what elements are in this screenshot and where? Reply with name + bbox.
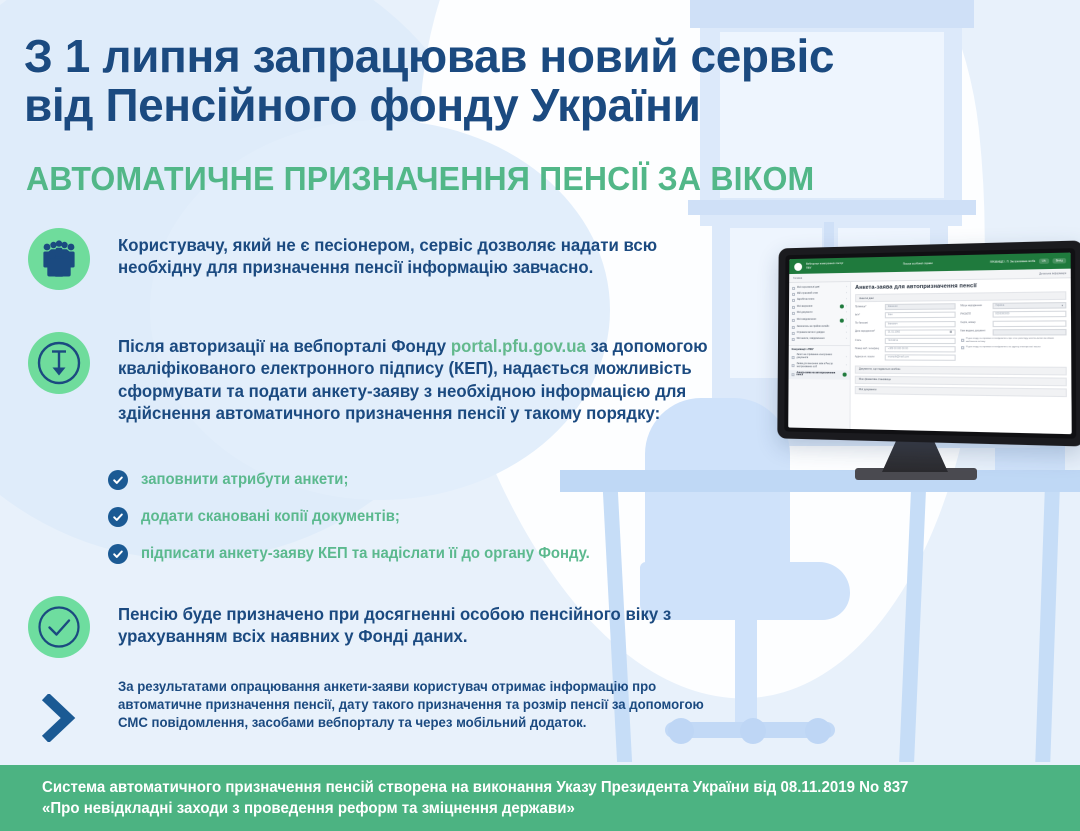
info-block-2-text: Після авторизації на вебпорталі Фонду po… bbox=[118, 335, 723, 425]
info-block-2-before: Після авторизації на вебпорталі Фонду bbox=[118, 336, 451, 356]
portal-main: Анкета-заява для автопризначення пенсії … bbox=[851, 278, 1072, 434]
bullet-list: заповнити атрибути анкети; додати сканов… bbox=[108, 470, 768, 581]
list-icon bbox=[792, 299, 795, 302]
list-icon bbox=[792, 319, 795, 322]
portal-search-label[interactable]: Пошук особової справи bbox=[903, 262, 933, 266]
form-select[interactable]: Чоловіча bbox=[885, 338, 955, 344]
form-row: СтатьЧоловіча bbox=[855, 338, 955, 344]
info-block-3: Пенсію буде призначено при досягненні ос… bbox=[28, 596, 708, 658]
form-input[interactable]: Іваненко bbox=[885, 303, 955, 310]
list-icon bbox=[792, 338, 795, 341]
badge-dot bbox=[843, 373, 847, 377]
desk-leg bbox=[899, 492, 926, 762]
form-title: Анкета-заява для автопризначення пенсії bbox=[855, 282, 1066, 291]
form-row: Ким видано документ bbox=[960, 329, 1066, 336]
form-row: РНОКПП0000000000 bbox=[960, 311, 1066, 318]
portal-lang-switch[interactable]: UA bbox=[1039, 258, 1050, 264]
info-block-2: Після авторизації на вебпорталі Фонду po… bbox=[28, 332, 748, 425]
form-section-header[interactable]: Мої документи bbox=[855, 386, 1067, 397]
window-blind bbox=[690, 0, 974, 28]
form-input[interactable]: 0000000000 bbox=[992, 311, 1066, 318]
list-item-label: заповнити атрибути анкети; bbox=[141, 471, 348, 488]
list-icon bbox=[792, 306, 795, 309]
chevron-right-icon: › bbox=[846, 332, 847, 335]
form-grid: Прізвище*Іваненко Ім'я*Іван По батьковіІ… bbox=[855, 302, 1067, 364]
list-icon bbox=[792, 356, 795, 359]
list-icon bbox=[792, 312, 795, 315]
portal-url-link[interactable]: portal.pfu.gov.ua bbox=[451, 336, 586, 356]
portal-user-info: ПРІЗВИЩЕ І. П. Застрахована особа bbox=[990, 260, 1035, 264]
download-arrow-icon bbox=[28, 332, 90, 394]
form-section-header[interactable]: Документи, що подаються особою bbox=[855, 365, 1067, 375]
form-row: Дата народження*01.01.1960▦ bbox=[855, 329, 955, 335]
list-icon bbox=[792, 287, 795, 290]
checkbox-icon[interactable] bbox=[960, 338, 963, 341]
check-badge-icon bbox=[108, 470, 128, 490]
form-row: Прізвище*Іваненко bbox=[855, 303, 955, 310]
portal-sidebar: Мої персональні дані› Мій страховий стаж… bbox=[788, 282, 851, 429]
info-block-4: За результатами опрацювання анкети-заяви… bbox=[28, 678, 748, 742]
form-row: Адреса ел. поштиexample@mail.com bbox=[855, 355, 955, 362]
footer-line-1: Система автоматичного призначення пенсій… bbox=[42, 777, 1049, 798]
form-section-header[interactable]: Моє фінансове становище bbox=[855, 375, 1067, 386]
sidebar-group-item-active[interactable]: Анкета-заява на автопризначення пенсії bbox=[789, 370, 850, 379]
form-row: По батьковіІванович bbox=[855, 321, 955, 328]
chevron-down-icon[interactable]: ▾ bbox=[1062, 304, 1063, 307]
form-row: Номер моб. телефону+380 00 000 00 00 bbox=[855, 346, 955, 352]
desk-leg bbox=[1035, 492, 1059, 762]
calendar-icon[interactable]: ▦ bbox=[950, 331, 952, 334]
footer-banner: Система автоматичного призначення пенсій… bbox=[0, 765, 1080, 831]
portal-brand: Вебпортал електронних послуг ПФУ bbox=[806, 262, 848, 269]
sidebar-group-item[interactable]: Запит на отримання електронних документі… bbox=[789, 353, 850, 362]
list-item-label: підписати анкету-заяву КЕП та надіслати … bbox=[141, 545, 590, 562]
page-title: З 1 липня запрацював новий сервіс від Пе… bbox=[24, 32, 884, 130]
list-icon bbox=[792, 293, 795, 296]
list-icon bbox=[792, 364, 795, 367]
chevron-right-icon bbox=[28, 678, 90, 742]
info-block-3-text: Пенсію буде призначено при досягненні ос… bbox=[118, 603, 684, 648]
badge-dot bbox=[840, 318, 844, 322]
form-input[interactable]: example@mail.com bbox=[885, 355, 955, 362]
infographic-poster: Вебпортал електронних послуг ПФУ Пошук о… bbox=[0, 0, 1080, 831]
portal-logout-button[interactable]: Вихід bbox=[1052, 258, 1066, 264]
portal-subbar-right[interactable]: Детальна інформація bbox=[1039, 271, 1066, 275]
list-item: підписати анкету-заяву КЕП та надіслати … bbox=[108, 544, 768, 564]
chevron-right-icon: › bbox=[846, 298, 847, 301]
check-badge-icon bbox=[108, 507, 128, 527]
info-block-4-text: За результатами опрацювання анкети-заяви… bbox=[118, 678, 729, 732]
people-group-icon bbox=[28, 228, 90, 290]
form-input[interactable]: Іванович bbox=[885, 321, 955, 328]
check-badge-icon bbox=[108, 544, 128, 564]
list-item: додати скановані копії документів; bbox=[108, 507, 768, 527]
list-icon bbox=[792, 373, 795, 376]
page-subtitle: АВТОМАТИЧНЕ ПРИЗНАЧЕННЯ ПЕНСІЇ ЗА ВІКОМ bbox=[26, 162, 899, 195]
form-column-right: Місце народженняУкраїна▾ РНОКПП000000000… bbox=[960, 302, 1066, 364]
chevron-right-icon: › bbox=[846, 292, 847, 295]
info-block-1-text: Користувачу, який не є песіонером, серві… bbox=[118, 234, 704, 279]
form-row: Місце народженняУкраїна▾ bbox=[960, 302, 1066, 309]
form-date-input[interactable]: 01.01.1960▦ bbox=[885, 329, 955, 335]
form-column-left: Прізвище*Іваненко Ім'я*Іван По батьковіІ… bbox=[855, 303, 955, 363]
chevron-right-icon: › bbox=[846, 365, 847, 368]
form-section-header[interactable]: Анкетні дані bbox=[855, 291, 1066, 302]
portal-body: Мої персональні дані› Мій страховий стаж… bbox=[788, 278, 1071, 434]
list-icon bbox=[792, 326, 795, 329]
info-block-1: Користувачу, який не є песіонером, серві… bbox=[28, 228, 728, 290]
form-checkbox-row[interactable]: Я даю згоду на отримання повідомлень на … bbox=[960, 346, 1066, 350]
pfu-logo-icon bbox=[793, 261, 803, 271]
form-input[interactable]: +380 00 000 00 00 bbox=[885, 346, 955, 352]
chevron-right-icon: › bbox=[846, 312, 847, 315]
list-item: заповнити атрибути анкети; bbox=[108, 470, 768, 490]
list-item-label: додати скановані копії документів; bbox=[141, 508, 400, 525]
chair-wheel bbox=[805, 718, 831, 744]
form-input[interactable]: Іван bbox=[885, 312, 955, 319]
footer-line-2: «Про невідкладні заходи з проведення реф… bbox=[42, 798, 1049, 819]
check-circle-icon bbox=[28, 596, 90, 658]
form-row: Ім'я*Іван bbox=[855, 312, 955, 319]
sidebar-group-title: Комунікації з ПФУ bbox=[789, 345, 850, 353]
form-select[interactable]: Україна▾ bbox=[992, 302, 1066, 309]
list-icon bbox=[792, 332, 795, 335]
chevron-right-icon: › bbox=[846, 305, 847, 308]
monitor-illustration: Вебпортал електронних послуг ПФУ Пошук о… bbox=[777, 240, 1080, 446]
form-row: Серія, номер bbox=[960, 320, 1066, 327]
chevron-right-icon: › bbox=[846, 356, 847, 359]
form-checkbox-row[interactable]: Я даю згоду на отримання повідомлень про… bbox=[960, 338, 1066, 344]
chevron-right-icon: › bbox=[846, 319, 847, 322]
chevron-right-icon: › bbox=[846, 338, 847, 341]
badge-dot bbox=[840, 305, 844, 309]
checkbox-icon[interactable] bbox=[960, 346, 963, 349]
chevron-right-icon: › bbox=[846, 326, 847, 329]
chevron-right-icon: › bbox=[846, 286, 847, 289]
form-input[interactable] bbox=[992, 329, 1066, 336]
form-input[interactable] bbox=[992, 320, 1066, 327]
monitor-screen: Вебпортал електронних послуг ПФУ Пошук о… bbox=[788, 253, 1071, 435]
sidebar-item[interactable]: Мої запити, повідомлення› bbox=[789, 336, 850, 342]
window-sill bbox=[688, 200, 976, 215]
portal-breadcrumb[interactable]: Головна bbox=[793, 276, 802, 279]
